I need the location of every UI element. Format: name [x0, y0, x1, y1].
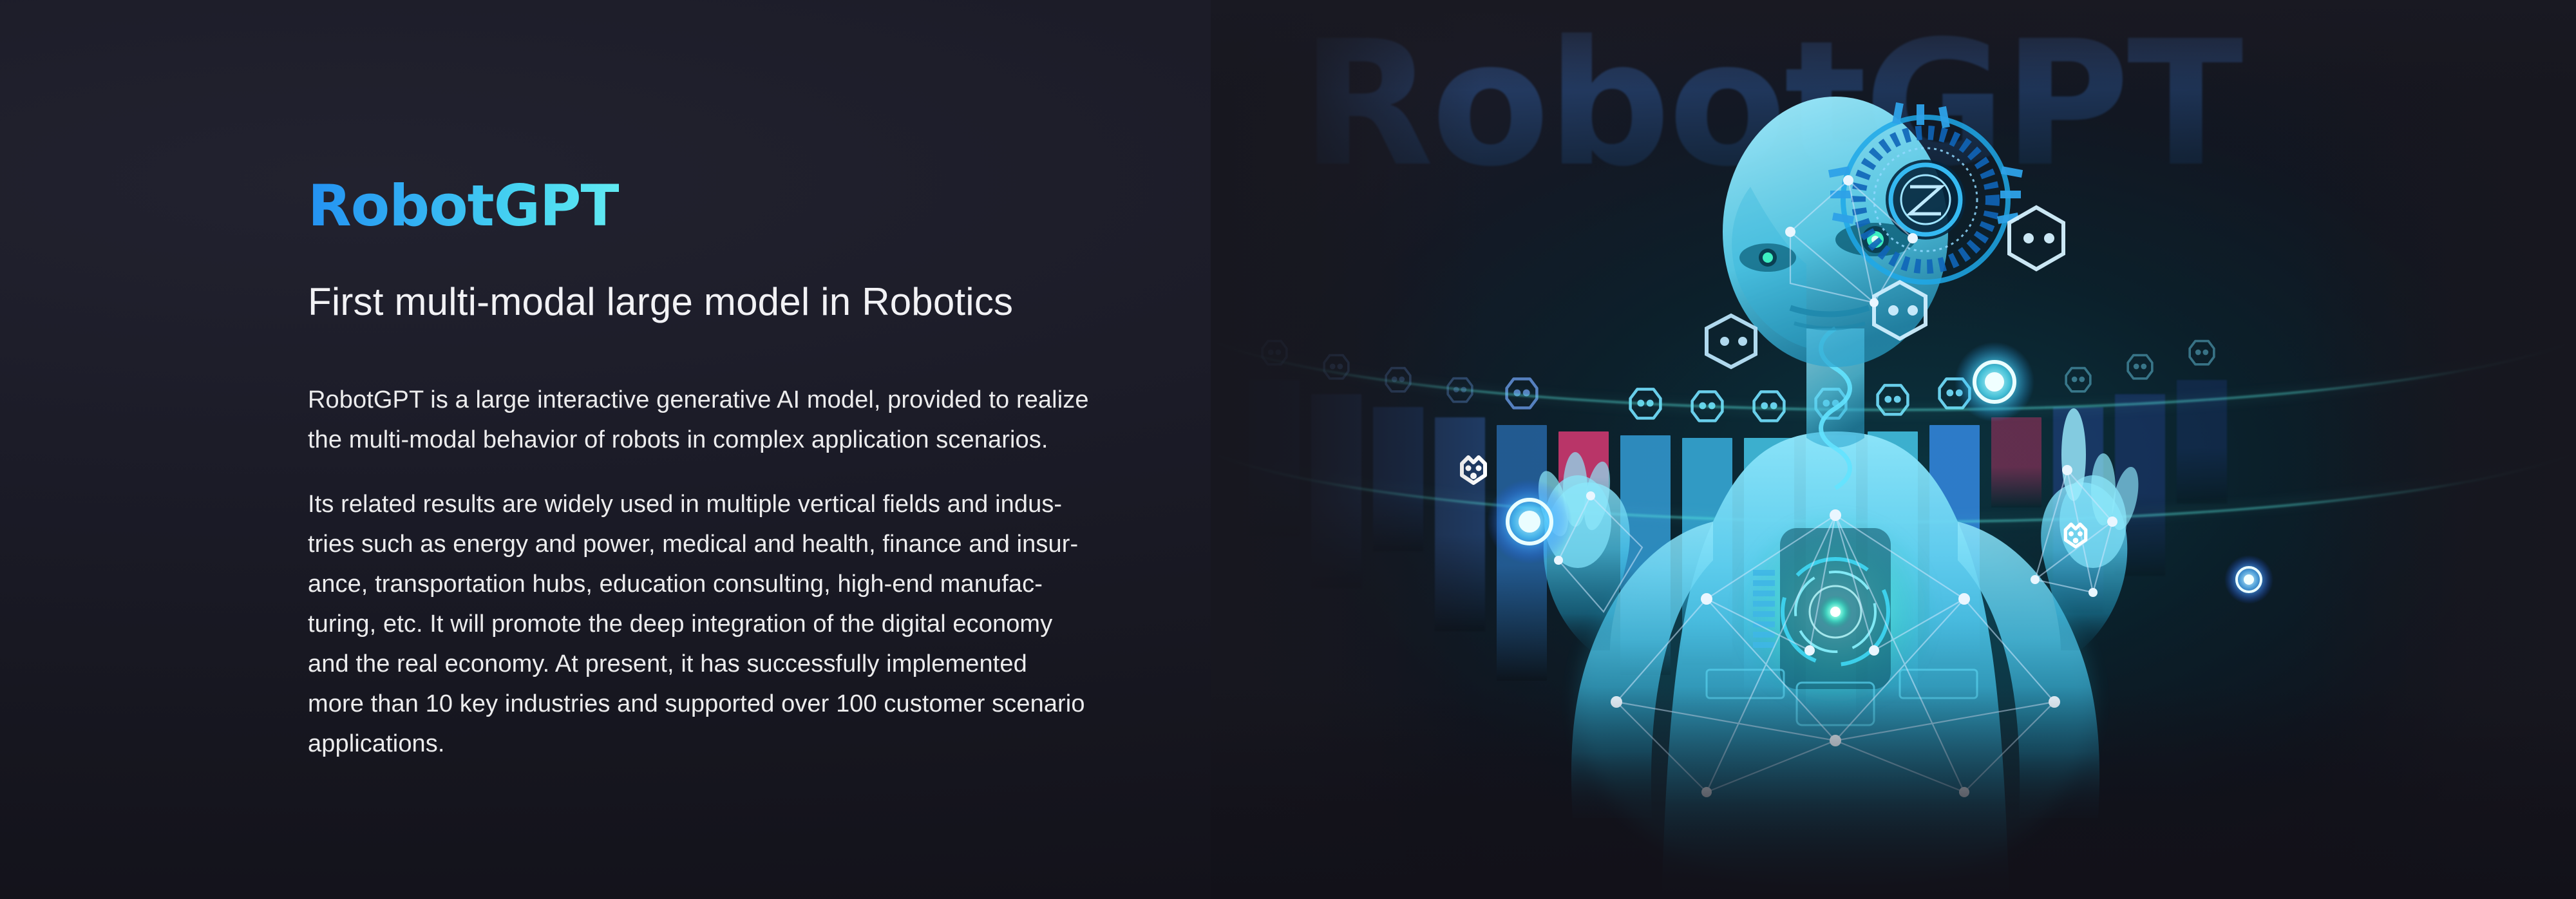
hero-banner: RobotGPT [0, 0, 2576, 899]
glow-ring-icon [1953, 340, 2036, 424]
hero-artwork: RobotGPT [1211, 0, 2576, 899]
page-title: RobotGPT [308, 173, 619, 239]
paragraph-line: tries such as energy and power, medical … [308, 524, 1216, 564]
surprised-face-icon [2053, 515, 2098, 560]
artwork-fade-bottom [1211, 686, 2576, 899]
hero-text-panel: RobotGPT First multi-modal large model i… [0, 0, 1224, 899]
glow-ring-icon [1484, 477, 1575, 567]
robot-face-hexagon-icon [2009, 207, 2063, 269]
artwork-fade-top [1211, 0, 2576, 90]
robot-eye-left [1739, 243, 1796, 272]
paragraph-line: turing, etc. It will promote the deep in… [308, 604, 1216, 644]
paragraph-line: RobotGPT is a large interactive generati… [308, 380, 1216, 420]
paragraph-line: the multi-modal behavior of robots in co… [308, 420, 1216, 460]
paragraph-line: Its related results are widely used in m… [308, 484, 1216, 524]
description-paragraph-1: RobotGPT is a large interactive generati… [308, 380, 1216, 460]
paragraph-line: and the real economy. At present, it has… [308, 644, 1216, 684]
bar-chart-bar [2177, 380, 2227, 504]
paragraph-line: more than 10 key industries and supporte… [308, 684, 1216, 724]
paragraph-line: applications. [308, 724, 1216, 764]
robot-face-hexagon-icon [2183, 334, 2221, 371]
description-paragraph-2: Its related results are widely used in m… [308, 484, 1216, 764]
glow-ring-icon [2223, 554, 2275, 605]
page-subtitle: First multi-modal large model in Robotic… [308, 279, 1013, 324]
robot-face-hexagon-icon [1707, 316, 1756, 367]
paragraph-line: ance, transportation hubs, education con… [308, 564, 1216, 604]
